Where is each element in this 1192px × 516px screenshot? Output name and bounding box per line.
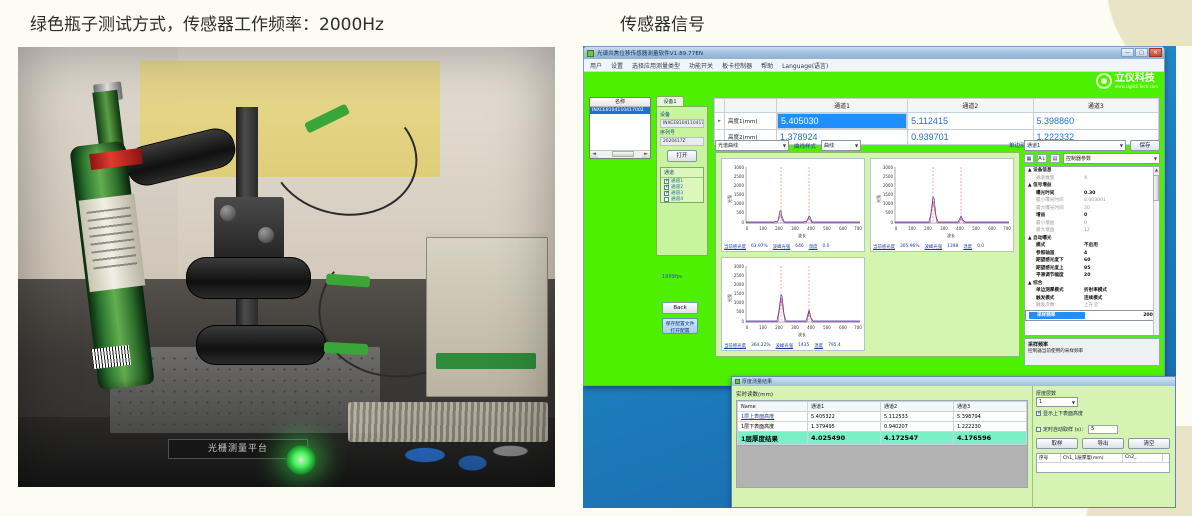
chart-1-caption: 当前感光度 63.97% 波峰光强 646 温度 0.0 (724, 244, 862, 250)
menu-item-settings[interactable]: 设置 (611, 61, 623, 70)
experiment-photo: 光栅测量平台 (18, 47, 555, 487)
spectrum-charts-area: 300025002000 15001000500 0 0100200 30040… (715, 152, 1020, 357)
column-header-ch1-thickness: Ch1_1层厚度(mm) (1061, 454, 1123, 462)
property-key: 模式 (1028, 242, 1084, 250)
property-header: 通道1 ▼ 保存 (1024, 140, 1160, 151)
property-grid[interactable]: ▲ 设备信息 通道数量 4 ▲ 信号增益 曝光时间 0.30 (1024, 166, 1160, 336)
windows-desktop: 光谱共焦位移传感器测量软件V1.89.77EN — □ ✕ 用户 设置 选择应用… (583, 46, 1176, 508)
column-header-channel-1: 通道1 (777, 99, 908, 113)
property-category-signal-gain[interactable]: ▲ 信号增益 (1025, 182, 1159, 190)
table-row[interactable]: 1层下表面高度 1.379495 0.940207 1.222230 (738, 422, 1027, 432)
svg-text:光强: 光强 (875, 195, 881, 203)
svg-text:500: 500 (736, 210, 744, 215)
auto-sample-label: 定时自动取样 (s)： (1043, 426, 1086, 433)
sample-history-header: 序号 Ch1_1层厚度(mm) Ch2_ (1037, 454, 1169, 463)
svg-text:0: 0 (746, 226, 749, 231)
property-value[interactable]: 20 (1084, 205, 1090, 213)
channel-group: 通道 通道1 通道2 通道3 通道4 (660, 167, 704, 203)
chart-3-peak-label: 波峰光强 (776, 343, 794, 349)
svg-text:400: 400 (807, 325, 815, 330)
svg-text:波长: 波长 (798, 331, 806, 337)
property-description-text: 控制器当前使用的采样频率 (1028, 348, 1156, 354)
property-key: 最大增益 (1028, 227, 1084, 235)
property-key: 期望感光度下 (1028, 257, 1084, 265)
property-value[interactable]: 上升沿 (1084, 302, 1098, 310)
chart-svg-1: 300025002000 15001000500 0 0100200 30040… (724, 161, 864, 239)
sort-az-icon[interactable]: A↓ (1037, 154, 1047, 163)
device-label: 设备 (660, 111, 704, 118)
svg-text:400: 400 (956, 226, 964, 231)
device-list-scroll-thumb[interactable] (612, 151, 634, 157)
svg-text:2500: 2500 (734, 174, 745, 179)
property-row[interactable]: 触发模式 连续模式 (1025, 295, 1159, 303)
property-key: 参照轴道 (1028, 250, 1084, 258)
chart-1-temp: 0.0 (822, 244, 829, 250)
property-key: 期望感光度上 (1028, 265, 1084, 273)
show-surface-label: 显示上下表面高度 (1043, 410, 1083, 417)
device-list-header: 名称 (590, 98, 650, 107)
property-channel-select[interactable]: 通道1 ▼ (1024, 140, 1126, 151)
svg-text:光强: 光强 (726, 195, 732, 203)
svg-text:600: 600 (839, 226, 847, 231)
property-row[interactable]: 触发次数 上升沿 (1025, 302, 1159, 310)
chevron-down-icon: ▼ (855, 143, 858, 148)
chart-2-sensitivity: 305.96% (900, 244, 920, 250)
svg-text:500: 500 (823, 226, 831, 231)
svg-text:3000: 3000 (734, 165, 745, 170)
sample-buttons: 取样 导出 清空 (1036, 438, 1170, 449)
svg-text:300: 300 (791, 325, 799, 330)
svg-text:1500: 1500 (734, 291, 745, 296)
curve-style-label: 曲线样式 (794, 142, 816, 150)
svg-text:1500: 1500 (883, 192, 894, 197)
property-key: 最大曝光时间 (1028, 205, 1084, 213)
chart-3-temp: 795.4 (828, 343, 841, 349)
property-row[interactable]: 通道数量 4 (1025, 175, 1159, 183)
cell-thickness-ch1: 4.025490 (808, 432, 881, 445)
photo-vignette (18, 47, 555, 487)
minimize-button[interactable]: — (1121, 48, 1134, 57)
column-header-index: 序号 (1037, 454, 1061, 462)
svg-text:700: 700 (1003, 226, 1011, 231)
property-value[interactable]: 60 (1084, 257, 1090, 265)
svg-text:200: 200 (775, 325, 783, 330)
back-button[interactable]: Back (662, 302, 698, 314)
subwindow-title: 厚度测量结果 (742, 378, 772, 385)
curve-style-select[interactable]: 曲线 ▼ (821, 140, 861, 151)
table-row[interactable]: 1层上表面高度 5.405322 5.112533 5.398794 (738, 412, 1027, 422)
menu-item-function-switch[interactable]: 功能开关 (689, 61, 713, 70)
chart-1-peak-label: 波峰光强 (773, 244, 791, 250)
property-key: 增益 (1028, 212, 1084, 220)
property-value[interactable]: 4 (1084, 175, 1087, 183)
frame-rate-label: 1999fps (662, 274, 682, 280)
auto-sample-checkbox[interactable] (1036, 427, 1041, 432)
column-header-channel-3: 通道3 (954, 402, 1027, 412)
property-row-sampling-frequency[interactable]: 采样频率 2000 (1025, 310, 1159, 322)
curve-type-select[interactable]: 光谱曲线 ▼ (715, 140, 789, 151)
maximize-button[interactable]: □ (1135, 48, 1148, 57)
property-row[interactable]: 平滑调节幅度 20 (1025, 272, 1159, 280)
chevron-down-icon: ▼ (1120, 143, 1123, 148)
chart-1-sensitivity-label: 当前感光度 (724, 244, 746, 250)
close-button[interactable]: ✕ (1149, 48, 1162, 57)
svg-text:0: 0 (895, 226, 898, 231)
properties-icon[interactable]: ▤ (1050, 154, 1060, 163)
chart-svg-3: 300025002000 15001000500 0 0100200 30040… (724, 260, 864, 338)
caption-right: 传感器信号 (620, 10, 705, 35)
property-key: 平滑调节幅度 (1028, 272, 1084, 280)
property-value[interactable]: 连续模式 (1084, 295, 1102, 303)
property-panel: 通道1 ▼ 保存 ▦ A↓ ▤ 控制器参数 ▼ ▲ (1024, 140, 1160, 356)
svg-text:300: 300 (791, 226, 799, 231)
svg-text:200: 200 (775, 226, 783, 231)
svg-text:500: 500 (972, 226, 980, 231)
property-value[interactable]: 12 (1084, 227, 1090, 235)
property-category-label: 信号增益 (1033, 182, 1089, 190)
svg-text:600: 600 (839, 325, 847, 330)
property-description: 采样频率 控制器当前使用的采样频率 (1024, 338, 1160, 366)
channel-row-4[interactable]: 通道4 (661, 196, 703, 202)
svg-text:2000: 2000 (734, 183, 745, 188)
chevron-down-icon: ▼ (1072, 400, 1075, 405)
row-label-bottom-surface: 1层下表面高度 (738, 422, 808, 432)
svg-text:100: 100 (759, 325, 767, 330)
table-corner-cell (715, 99, 725, 113)
config-file-button[interactable]: 保存配置文件 打开配置 (662, 318, 698, 334)
property-value[interactable]: 0 (1084, 220, 1087, 228)
property-category-general[interactable]: ▲ 综合 (1025, 280, 1159, 288)
svg-text:0: 0 (741, 319, 744, 324)
menu-item-board-controller[interactable]: 板卡控制器 (722, 61, 752, 70)
layers-label: 厚度层数 (1036, 390, 1170, 397)
property-group-select[interactable]: 控制器参数 ▼ (1063, 153, 1160, 164)
thickness-settings-section: 厚度层数 1 ▼ 显示上下表面高度 定时自动取样 (s)： 5 取样 导出 (1032, 386, 1173, 508)
cell-bottom-ch2: 0.940207 (881, 422, 954, 432)
property-category-label: 设备信息 (1033, 167, 1089, 175)
svg-text:700: 700 (854, 226, 862, 231)
svg-text:波长: 波长 (798, 232, 806, 238)
window-controls: — □ ✕ (1121, 48, 1162, 57)
property-value[interactable]: 折射率模式 (1084, 287, 1107, 295)
property-row[interactable]: 期望感光度上 95 (1025, 265, 1159, 273)
sample-button[interactable]: 取样 (1036, 438, 1078, 449)
cell-h1-ch1[interactable]: 5.405030 (777, 113, 907, 129)
property-row[interactable]: 曝光时间 0.30 (1025, 190, 1159, 198)
chart-toolbar: 光谱曲线 ▼ 曲线样式 曲线 ▼ (715, 140, 1015, 151)
device-list-item[interactable]: INXCE8104110417002 (590, 107, 650, 114)
property-row[interactable]: 最大曝光时间 20 (1025, 205, 1159, 213)
chart-3-caption: 当前感光度 364.22% 波峰光强 1435 温度 795.4 (724, 343, 862, 349)
property-grid-scroll-thumb[interactable] (1153, 175, 1159, 201)
svg-text:波长: 波长 (947, 232, 955, 238)
chart-2-peak: 1398 (947, 244, 958, 250)
svg-text:2500: 2500 (734, 273, 745, 278)
property-key: 曝光时间 (1028, 190, 1084, 198)
measurement-table: 通道1 通道2 通道3 ▸ 高度1(mm) 5.405030 5.112415 … (713, 97, 1160, 146)
serial-label: 序列号 (660, 129, 704, 136)
clear-button[interactable]: 清空 (1128, 438, 1170, 449)
chart-1-sensitivity: 63.97% (751, 244, 768, 250)
svg-text:0: 0 (746, 325, 749, 330)
caption-left: 绿色瓶子测试方式，传感器工作频率：2000Hz (30, 10, 384, 35)
property-key: 最小增益 (1028, 220, 1084, 228)
show-surface-row[interactable]: 显示上下表面高度 (1036, 410, 1170, 417)
realtime-table: Name 通道1 通道2 通道3 1层上表面高度 5.405322 5.1125… (736, 400, 1028, 446)
column-header-channel-2: 通道2 (908, 99, 1033, 113)
save-parameters-button[interactable]: 保存 (1130, 140, 1160, 151)
column-header-channel-2: 通道2 (881, 402, 954, 412)
property-category-auto-exposure[interactable]: ▲ 自动曝光 (1025, 235, 1159, 243)
categorized-view-icon[interactable]: ▦ (1024, 154, 1034, 163)
property-key: 通道数量 (1028, 175, 1084, 183)
column-header-ch2-thickness: Ch2_ (1123, 454, 1163, 462)
chevron-down-icon: ▼ (783, 143, 786, 148)
svg-text:500: 500 (736, 309, 744, 314)
svg-text:3000: 3000 (883, 165, 894, 170)
show-surface-checkbox[interactable] (1036, 411, 1041, 416)
property-key: 触发次数 (1028, 302, 1084, 310)
property-key: 最小曝光时间 (1028, 197, 1084, 205)
spectrum-chart-channel-2[interactable]: 300025002000 15001000500 0 0100200 30040… (870, 158, 1014, 252)
property-category-label: 自动曝光 (1033, 235, 1089, 243)
curve-type-value: 光谱曲线 (718, 142, 738, 149)
cell-h1-ch2[interactable]: 5.112415 (908, 113, 1033, 130)
column-header-empty (725, 99, 777, 113)
curve-style-value: 曲线 (824, 142, 834, 149)
row-label-thickness-result: 1层厚度结果 (738, 432, 808, 445)
device-id-value: INXCE8104110417002 (660, 119, 704, 128)
property-row[interactable]: 最小曝光时间 0.003001 (1025, 197, 1159, 205)
property-category-device-info[interactable]: ▲ 设备信息 (1025, 167, 1159, 175)
svg-text:700: 700 (854, 325, 862, 330)
cell-bottom-ch1: 1.379495 (808, 422, 881, 432)
property-value[interactable]: 4 (1084, 250, 1087, 258)
tab-device-1[interactable]: 设备1 (656, 96, 684, 106)
chart-svg-2: 300025002000 15001000500 0 0100200 30040… (873, 161, 1013, 239)
cell-bottom-ch3: 1.222230 (954, 422, 1027, 432)
chart-2-sensitivity-label: 当前感光度 (873, 244, 895, 250)
svg-text:0: 0 (890, 220, 893, 225)
layers-select[interactable]: 1 ▼ (1036, 397, 1078, 407)
table-row-result[interactable]: 1层厚度结果 4.025490 4.172547 4.176596 (738, 432, 1027, 445)
page-corner-decoration-top (1042, 0, 1192, 46)
device-tab-strip: 设备1 (656, 96, 708, 106)
export-button[interactable]: 导出 (1082, 438, 1124, 449)
property-value[interactable]: 0 (1084, 212, 1087, 220)
logo-name: 立仪科技 (1115, 74, 1158, 84)
property-row[interactable]: 参照轴道 4 (1025, 250, 1159, 258)
logo-ring-icon (1096, 73, 1112, 89)
property-category-label: 综合 (1033, 280, 1089, 288)
property-row[interactable]: 模式 不启用 (1025, 242, 1159, 250)
app-icon (587, 50, 594, 57)
channel-3-checkbox[interactable] (664, 191, 669, 196)
chart-3-sensitivity: 364.22% (751, 343, 771, 349)
chart-3-temp-label: 温度 (814, 343, 823, 349)
chart-1-peak: 646 (795, 244, 803, 250)
menu-item-help[interactable]: 帮助 (761, 61, 773, 70)
chart-2-peak-label: 波峰光强 (925, 244, 943, 250)
cell-thickness-ch2: 4.172547 (881, 432, 954, 445)
application-body: 名称 INXCE8104110417002 ◄ ► 设备1 设备 INXCE81… (584, 94, 1164, 386)
chart-3-sensitivity-label: 当前感光度 (724, 343, 746, 349)
thickness-result-window: 厚度测量结果 实时读数(mm) Name 通道1 通道2 通道3 1层上表面高度 (731, 376, 1176, 508)
menu-bar: 用户 设置 选择应用测量类型 功能开关 板卡控制器 帮助 Language(语言… (584, 59, 1164, 72)
scroll-right-icon[interactable]: ► (642, 151, 650, 158)
svg-text:200: 200 (924, 226, 932, 231)
spectrum-chart-channel-1[interactable]: 300025002000 15001000500 0 0100200 30040… (721, 158, 865, 252)
property-row[interactable]: 增益 0 (1025, 212, 1159, 220)
cell-thickness-ch3: 4.176596 (954, 432, 1027, 445)
property-row[interactable]: 单边测厚模式 折射率模式 (1025, 287, 1159, 295)
property-channel-value: 通道1 (1027, 142, 1040, 149)
svg-text:1000: 1000 (883, 201, 894, 206)
property-description-title: 采样频率 (1028, 341, 1156, 348)
spectrum-chart-channel-3[interactable]: 300025002000 15001000500 0 0100200 30040… (721, 257, 865, 351)
realtime-table-empty-area (736, 446, 1028, 488)
chart-2-caption: 当前感光度 305.96% 波峰光强 1398 温度 0.0 (873, 244, 1011, 250)
cell-h1-ch3[interactable]: 5.398860 (1033, 113, 1158, 130)
column-header-channel-3: 通道3 (1033, 99, 1158, 113)
channel-4-label: 通道4 (671, 196, 683, 202)
property-toolbar: ▦ A↓ ▤ 控制器参数 ▼ (1024, 153, 1160, 164)
property-value[interactable]: 0.30 (1084, 190, 1095, 198)
auto-sample-row[interactable]: 定时自动取样 (s)： 5 (1036, 425, 1170, 434)
layers-value: 1 (1039, 399, 1042, 405)
scroll-left-icon[interactable]: ◄ (590, 151, 598, 158)
chart-1-temp-label: 温度 (809, 244, 818, 250)
svg-text:2000: 2000 (734, 282, 745, 287)
chart-2-temp: 0.0 (977, 244, 984, 250)
chart-3-peak: 1435 (798, 343, 809, 349)
open-device-button[interactable]: 打开 (667, 150, 697, 162)
realtime-title: 实时读数(mm) (736, 390, 1028, 398)
svg-text:1000: 1000 (734, 300, 745, 305)
svg-text:600: 600 (988, 226, 996, 231)
window-titlebar: 光谱共焦位移传感器测量软件V1.89.77EN — □ ✕ (584, 47, 1164, 59)
property-row[interactable]: 最小增益 0 (1025, 220, 1159, 228)
scroll-up-icon[interactable]: ▲ (1154, 167, 1159, 173)
svg-text:300: 300 (940, 226, 948, 231)
svg-text:1000: 1000 (734, 201, 745, 206)
device-list[interactable]: 名称 INXCE8104110417002 ◄ ► (589, 97, 651, 159)
subwindow-titlebar: 厚度测量结果 (732, 377, 1175, 386)
property-value[interactable]: 95 (1084, 265, 1090, 273)
svg-text:光强: 光强 (726, 294, 732, 302)
application-window: 光谱共焦位移传感器测量软件V1.89.77EN — □ ✕ 用户 设置 选择应用… (583, 46, 1165, 386)
cell-top-ch2: 5.112533 (881, 412, 954, 422)
column-header-name: Name (738, 402, 808, 412)
table-header-row: 通道1 通道2 通道3 (715, 99, 1159, 113)
branding-band: 立仪科技 www.LightE-Tech.com (584, 72, 1164, 94)
property-key: 采样频率 (1029, 312, 1085, 320)
svg-text:100: 100 (908, 226, 916, 231)
channel-4-checkbox[interactable] (664, 197, 669, 202)
logo-url: www.LightE-Tech.com (1115, 84, 1158, 89)
svg-text:2000: 2000 (883, 183, 894, 188)
menu-item-measurement-type[interactable]: 选择应用测量类型 (632, 61, 680, 70)
property-group-value: 控制器参数 (1066, 155, 1091, 162)
row-label-top-surface: 1层上表面高度 (738, 412, 808, 422)
window-title: 光谱共焦位移传感器测量软件V1.89.77EN (597, 49, 703, 57)
property-value[interactable]: 不启用 (1084, 242, 1098, 250)
table-row: ▸ 高度1(mm) 5.405030 5.112415 5.398860 (715, 113, 1159, 130)
property-key: 单边测厚模式 (1028, 287, 1084, 295)
sample-history-table[interactable]: 序号 Ch1_1层厚度(mm) Ch2_ (1036, 453, 1170, 473)
svg-text:400: 400 (807, 226, 815, 231)
cell-top-ch3: 5.398794 (954, 412, 1027, 422)
serial-value: 2020417Z (660, 137, 704, 146)
chart-2-temp-label: 温度 (963, 244, 972, 250)
menu-item-user[interactable]: 用户 (590, 61, 602, 70)
company-logo: 立仪科技 www.LightE-Tech.com (1096, 73, 1158, 89)
svg-text:2500: 2500 (883, 174, 894, 179)
column-header-channel-1: 通道1 (808, 402, 881, 412)
realtime-reading-section: 实时读数(mm) Name 通道1 通道2 通道3 1层上表面高度 5.4053… (732, 386, 1032, 508)
subwindow-body: 实时读数(mm) Name 通道1 通道2 通道3 1层上表面高度 5.4053… (732, 386, 1175, 508)
svg-text:500: 500 (885, 210, 893, 215)
svg-text:1500: 1500 (734, 192, 745, 197)
table-header-row: Name 通道1 通道2 通道3 (738, 402, 1027, 412)
menu-item-language[interactable]: Language(语言) (782, 61, 828, 70)
property-value[interactable]: 0.003001 (1084, 197, 1106, 205)
property-row[interactable]: 最大增益 12 (1025, 227, 1159, 235)
svg-text:500: 500 (823, 325, 831, 330)
cell-top-ch1: 5.405322 (808, 412, 881, 422)
svg-text:100: 100 (759, 226, 767, 231)
svg-text:3000: 3000 (734, 264, 745, 269)
device-panel: 设备 INXCE8104110417002 序列号 2020417Z 打开 通道… (656, 106, 708, 256)
chevron-down-icon: ▼ (1154, 156, 1157, 161)
property-value[interactable]: 20 (1084, 272, 1090, 280)
row-label-height-1: 高度1(mm) (725, 113, 777, 130)
property-key: 触发模式 (1028, 295, 1084, 303)
svg-text:0: 0 (741, 220, 744, 225)
row-selector-arrow-icon: ▸ (715, 113, 725, 130)
auto-sample-input[interactable]: 5 (1088, 425, 1118, 434)
property-row[interactable]: 期望感光度下 60 (1025, 257, 1159, 265)
subwindow-icon (735, 379, 740, 384)
